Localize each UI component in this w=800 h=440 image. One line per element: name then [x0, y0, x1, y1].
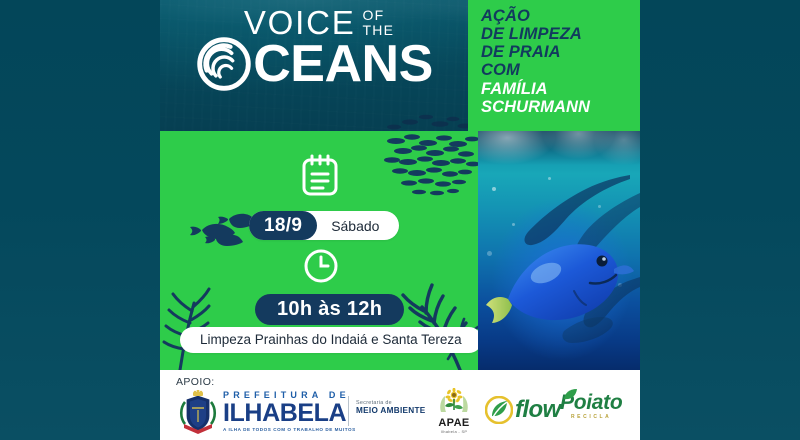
event-date-badge: 18/9 [249, 211, 317, 240]
poiato-sub: RECICLA [560, 414, 622, 420]
plastic-bag-and-fish-graphic [478, 131, 640, 370]
logo-word-of: OF [363, 8, 385, 22]
headline-line-3: DE PRAIA [481, 43, 630, 61]
flow-leaf-circle-icon [485, 396, 513, 424]
event-headline: AÇÃO DE LIMPEZA DE PRAIA COM FAMÍLIA SCH… [468, 0, 640, 131]
event-poster: VOICE OF THE [160, 0, 640, 440]
prefeitura-main-line: ILHABELA [223, 401, 356, 426]
event-details-panel: 18/9 Sábado 10h às 12h Limpeza Prainhas … [160, 131, 478, 370]
headline-line-6: SCHURMANN [481, 98, 630, 116]
footer-divider [348, 396, 349, 426]
logo-lower-line: CEANS [160, 37, 466, 91]
logo-word-oceans: CEANS [253, 38, 433, 90]
secretaria-meio-ambiente-logo: Secretaria de MEIO AMBIENTE [356, 400, 426, 416]
poster-body: 18/9 Sábado 10h às 12h Limpeza Prainhas … [160, 131, 640, 370]
wave-spiral-icon [197, 37, 251, 91]
prefeitura-tagline: A ILHA DE TODOS COM O TRABALHO DE MUITOS [223, 428, 356, 433]
clock-icon [303, 248, 339, 284]
underwater-photo [478, 131, 640, 370]
apae-sub: Ilhabela - SP [425, 429, 483, 434]
poiato-leaf-icon [563, 388, 578, 401]
headline-line-5: FAMÍLIA [481, 80, 630, 98]
ilhabela-coat-of-arms-icon [178, 390, 218, 434]
poster-header: VOICE OF THE [160, 0, 640, 131]
poster-stage: VOICE OF THE [0, 0, 800, 440]
apae-logo: APAE Ilhabela - SP [425, 388, 483, 434]
letterbox-band-right [640, 0, 800, 440]
fish-pair-icon [188, 210, 256, 246]
secretaria-main-line: MEIO AMBIENTE [356, 406, 426, 415]
apae-sunflower-hands-icon [435, 388, 473, 416]
poster-footer: APOIO: [160, 370, 640, 440]
event-weekday-label: Sábado [317, 211, 399, 240]
event-location-label: Limpeza Prainhas do Indaiá e Santa Terez… [180, 327, 478, 353]
flow-logo: flow [485, 396, 561, 424]
calendar-icon [301, 153, 339, 197]
poiato-logo: Poiato RECICLA [560, 392, 622, 420]
letterbox-band-left [0, 0, 160, 440]
support-label: APOIO: [176, 376, 215, 388]
flow-wordmark: flow [515, 396, 561, 424]
prefeitura-wordmark: PREFEITURA DE ILHABELA A ILHA DE TODOS C… [223, 391, 356, 433]
headline-line-4: COM [481, 61, 630, 79]
apae-name: APAE [425, 417, 483, 429]
voice-of-the-oceans-logo: VOICE OF THE [160, 6, 466, 126]
headline-line-1: AÇÃO [481, 7, 630, 25]
prefeitura-logo: PREFEITURA DE ILHABELA A ILHA DE TODOS C… [178, 390, 356, 434]
event-date-row: 18/9 Sábado [249, 211, 399, 240]
event-time-badge: 10h às 12h [255, 294, 404, 325]
headline-line-2: DE LIMPEZA [481, 25, 630, 43]
